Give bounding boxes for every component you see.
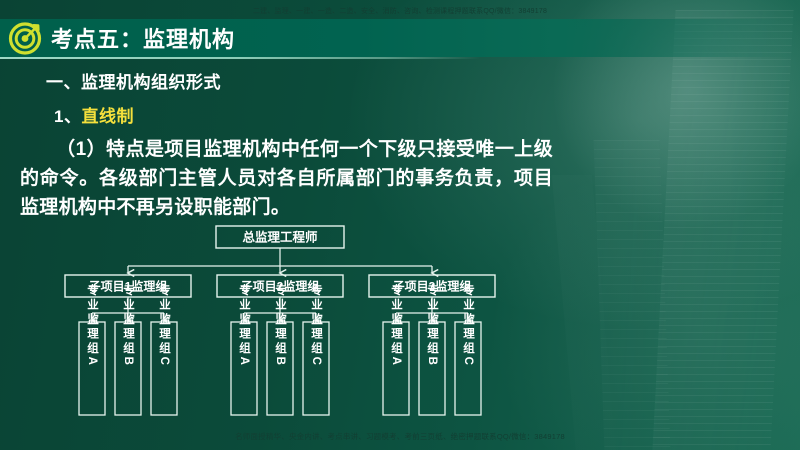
org-node-leaf: 专业监理组B <box>419 283 445 415</box>
org-node-leaf-label: 专业监理组C <box>462 283 475 368</box>
top-promo-banner: 二建、监理、一建、一造、二造、安全、消防、咨询、检测课程押题联系QQ/微信：38… <box>0 7 800 17</box>
org-node-leaf-label: 专业监理组C <box>310 283 323 368</box>
org-node-leaf: 专业监理组C <box>151 283 177 415</box>
org-node-leaf: 专业监理组B <box>115 283 141 415</box>
body-paragraph: （1）特点是项目监理机构中任何一个下级只接受唯一上级的命令。各级部门主管人员对各… <box>20 135 553 222</box>
heading-level-2: 1、直线制 <box>54 102 575 127</box>
org-node-root-label: 总监理工程师 <box>242 230 318 245</box>
org-node-leaf: 专业监理组A <box>79 283 105 415</box>
org-node-leaf: 专业监理组A <box>231 283 257 415</box>
org-chart: 总监理工程师 子项目1监理组 子项目2监理组 子项目3监理组 专业监理组A 专业… <box>0 222 600 417</box>
org-node-leaf: 专业监理组B <box>267 283 293 415</box>
bottom-promo-banner: 名师面授精华、央金内讲、考点串讲、习题模考、考前三页纸、绝密押题联系QQ/微信：… <box>0 431 800 442</box>
org-node-leaf: 专业监理组A <box>383 283 409 415</box>
org-node-leaf-label: 专业监理组A <box>238 283 251 368</box>
org-node-leaf-label: 专业监理组C <box>158 283 171 368</box>
org-node-leaf-label: 专业监理组B <box>274 283 287 368</box>
org-node-leaf-label: 专业监理组B <box>426 283 439 368</box>
org-node-root: 总监理工程师 <box>216 226 344 248</box>
target-icon <box>8 21 42 55</box>
header-content: 考点五：监理机构 <box>0 19 235 57</box>
paragraph-text: （1）特点是项目监理机构中任何一个下级只接受唯一上级的命令。各级部门主管人员对各… <box>20 139 553 218</box>
heading-level-2-highlight: 直线制 <box>81 107 134 126</box>
org-node-leaf: 专业监理组C <box>303 283 329 415</box>
heading-level-1: 一、监理机构组织形式 <box>46 68 575 93</box>
header-divider <box>0 57 800 59</box>
org-node-leaf-label: 专业监理组A <box>86 283 99 368</box>
org-node-leaf: 专业监理组C <box>455 283 481 415</box>
org-node-leaf-label: 专业监理组B <box>122 283 135 368</box>
background-skyscraper-primary <box>652 10 793 450</box>
page-title: 考点五：监理机构 <box>51 22 235 54</box>
org-node-leaf-label: 专业监理组A <box>390 283 403 368</box>
heading-level-2-prefix: 1、 <box>54 107 81 126</box>
body-content: 一、监理机构组织形式 1、直线制 （1）特点是项目监理机构中任何一个下级只接受唯… <box>0 68 575 222</box>
